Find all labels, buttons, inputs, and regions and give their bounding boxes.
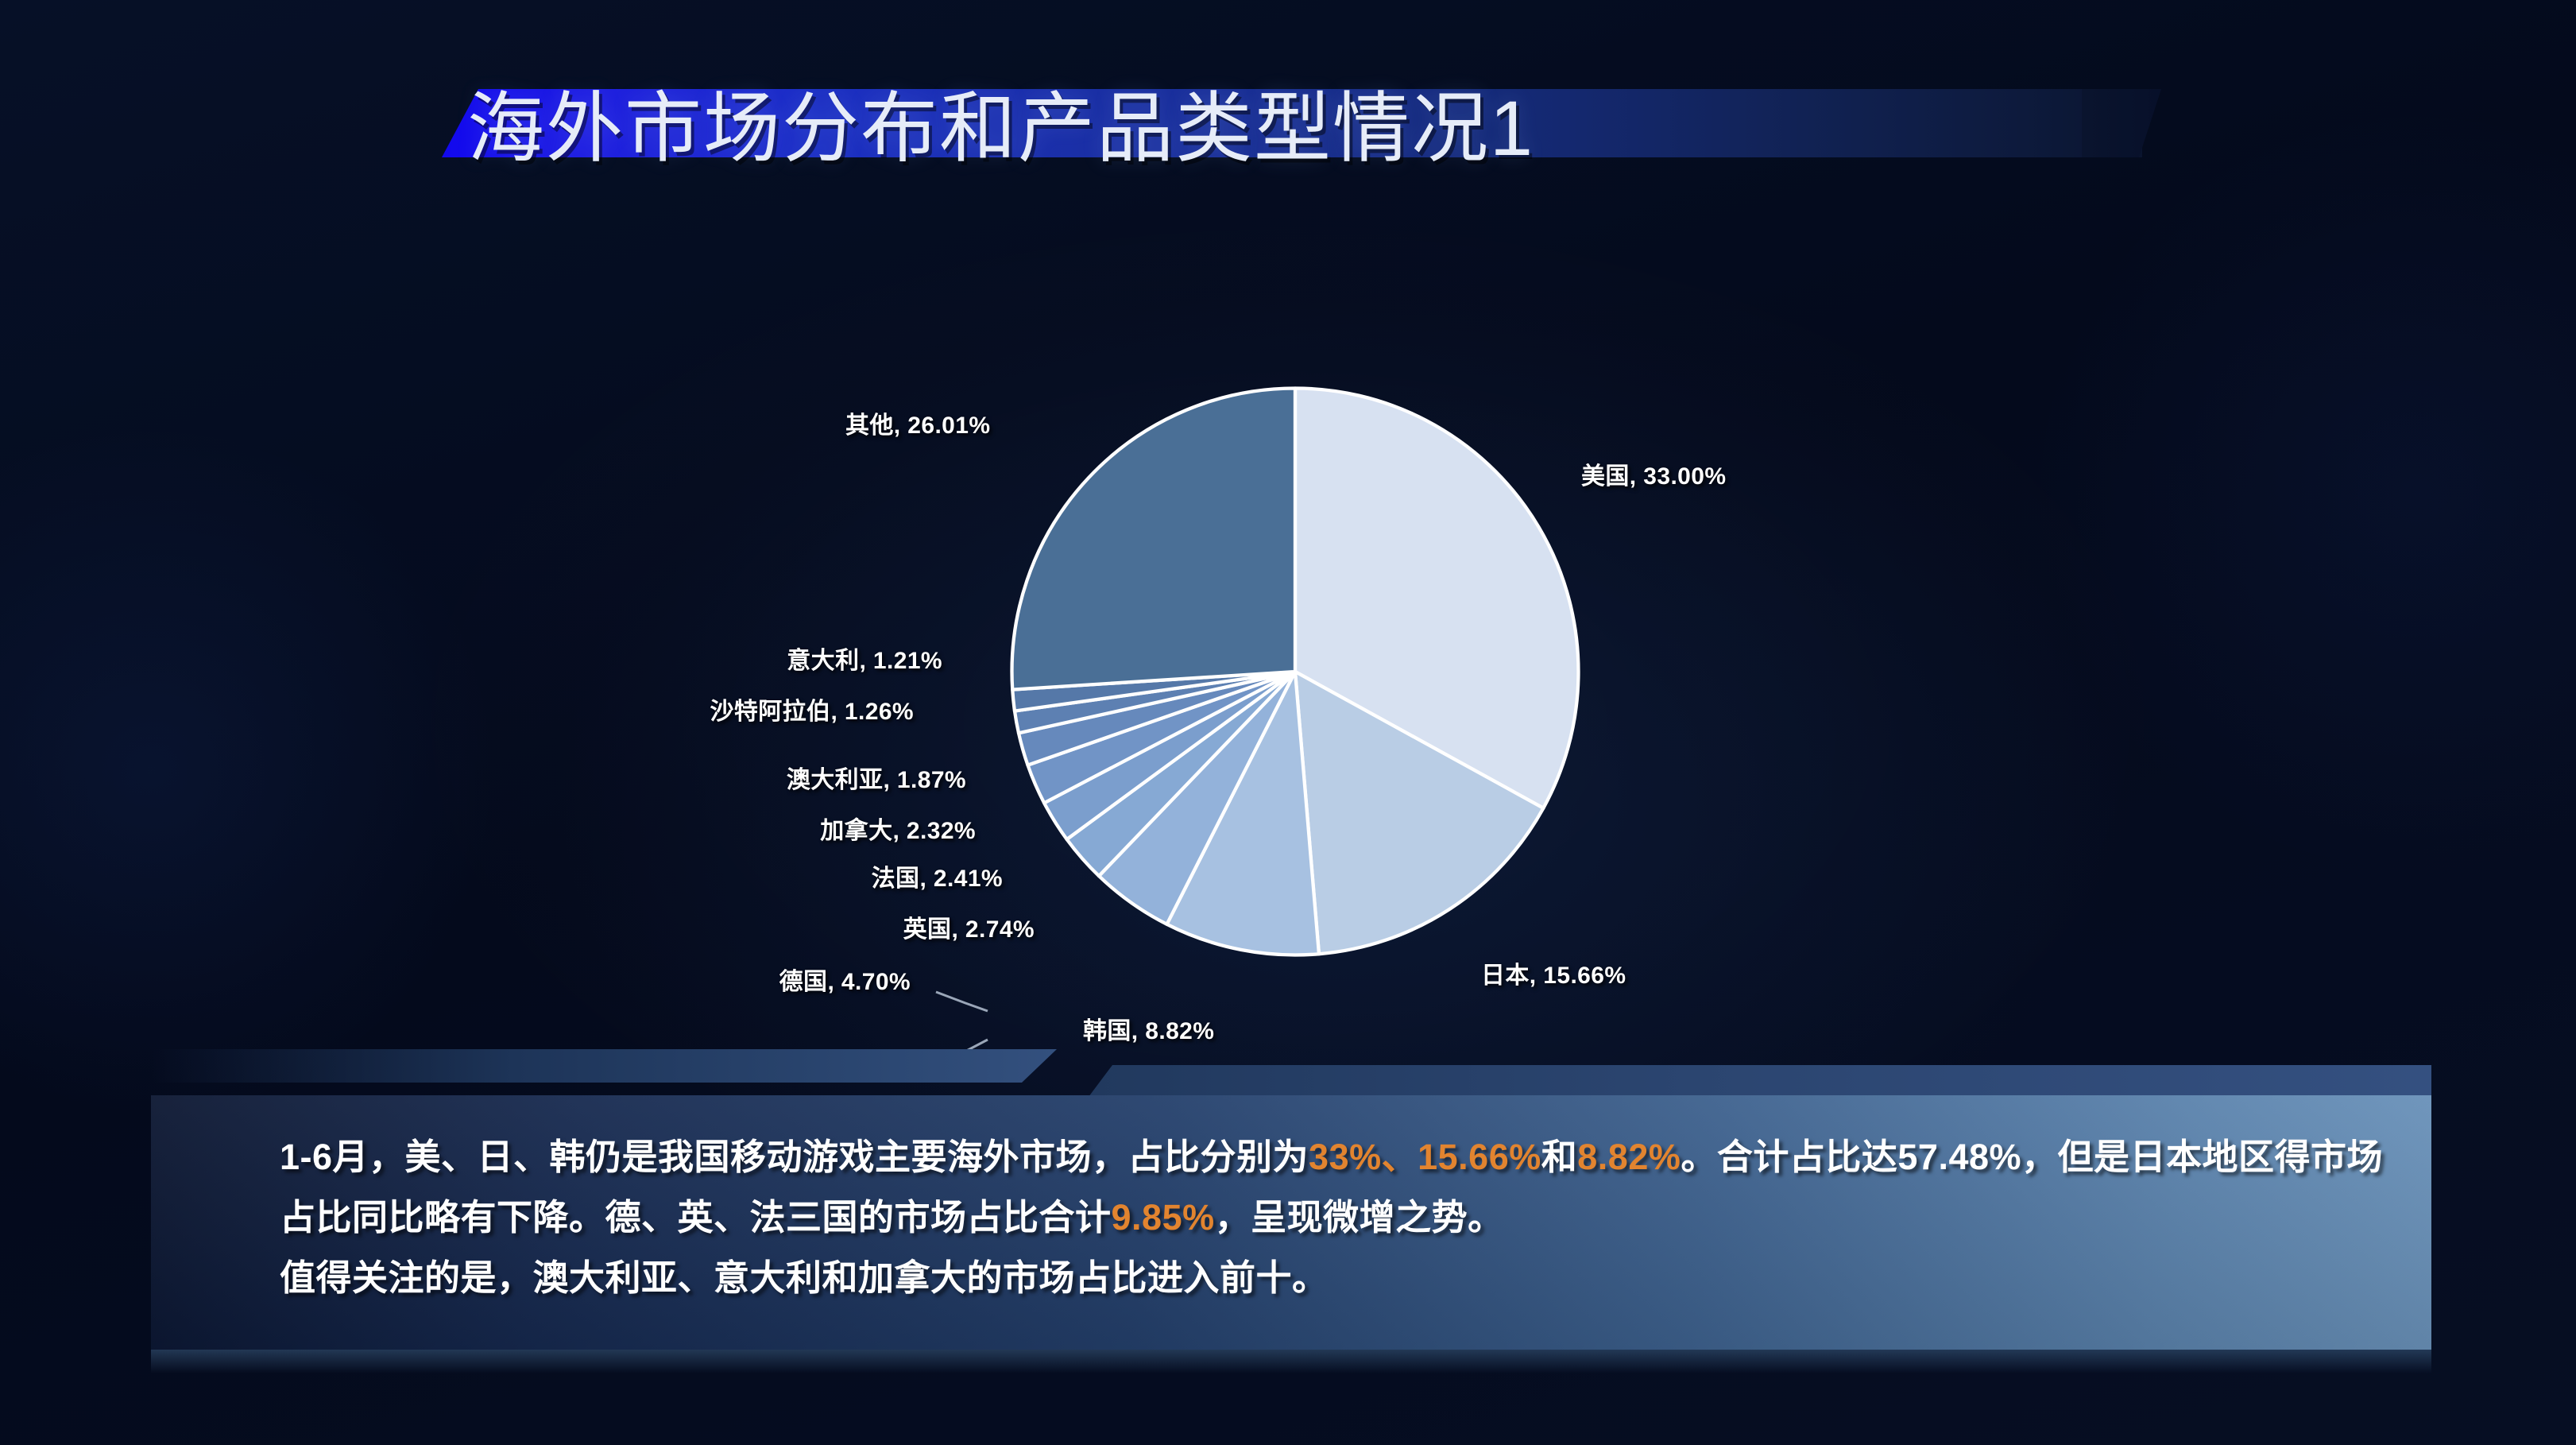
summary-text: 1-6月，美、日、韩仍是我国移动游戏主要海外市场，占比分别为33%、15.66%… [280, 1127, 2385, 1308]
summary-line1-b: 。合计占比达 [1681, 1137, 1897, 1177]
summary-highlight-1566: 15.66% [1418, 1137, 1541, 1177]
pie-svg [989, 366, 1601, 978]
pie-label-saudi-arabia: 沙特阿拉伯, 1.26% [710, 692, 914, 726]
pie-slice-group [1012, 389, 1579, 955]
pie-label-canada: 加拿大, 2.32% [820, 811, 976, 846]
pie-label-italy: 意大利, 1.21% [787, 641, 942, 676]
pie-label-korea: 韩国, 8.82% [1083, 1011, 1214, 1046]
pie-chart[interactable] [989, 366, 1601, 978]
summary-highlight-882: 8.82% [1577, 1137, 1681, 1177]
summary-highlight-985: 9.85% [1112, 1197, 1215, 1238]
pie-label-france: 法国, 2.41% [872, 858, 1003, 893]
summary-highlight-33: 33%、 [1309, 1137, 1418, 1177]
pie-label-uk: 英国, 2.74% [903, 909, 1035, 944]
summary-line3: 值得关注的是，澳大利亚、意大利和加拿大的市场占比进入前十。 [280, 1257, 1329, 1298]
pie-chart-area: 美国, 33.00% 日本, 15.66% 韩国, 8.82% 德国, 4.70… [0, 318, 2576, 1065]
pie-label-japan: 日本, 15.66% [1481, 955, 1626, 990]
decorative-strip-right [1089, 1065, 2431, 1097]
pie-label-australia: 澳大利亚, 1.87% [787, 760, 966, 795]
summary-panel-fade [151, 1350, 2431, 1373]
summary-mid-and: 和 [1541, 1137, 1578, 1177]
page-title: 海外市场分布和产品类型情况1 [467, 81, 2183, 176]
pie-label-germany: 德国, 4.70% [779, 962, 911, 997]
summary-line2-b: ，呈现微增之势。 [1215, 1197, 1504, 1238]
pie-label-us: 美国, 33.00% [1581, 456, 1726, 491]
decorative-strip-left [151, 1049, 1057, 1083]
pie-label-others: 其他, 26.01% [845, 405, 990, 440]
summary-line1-a: 1-6月，美、日、韩仍是我国移动游戏主要海外市场，占比分别为 [280, 1137, 1309, 1177]
pie-slice-其他[interactable] [1012, 389, 1295, 690]
slide-canvas: 海外市场分布和产品类型情况1 美国, 33.00% 日本, 15.66% 韩国,… [0, 0, 2576, 1445]
